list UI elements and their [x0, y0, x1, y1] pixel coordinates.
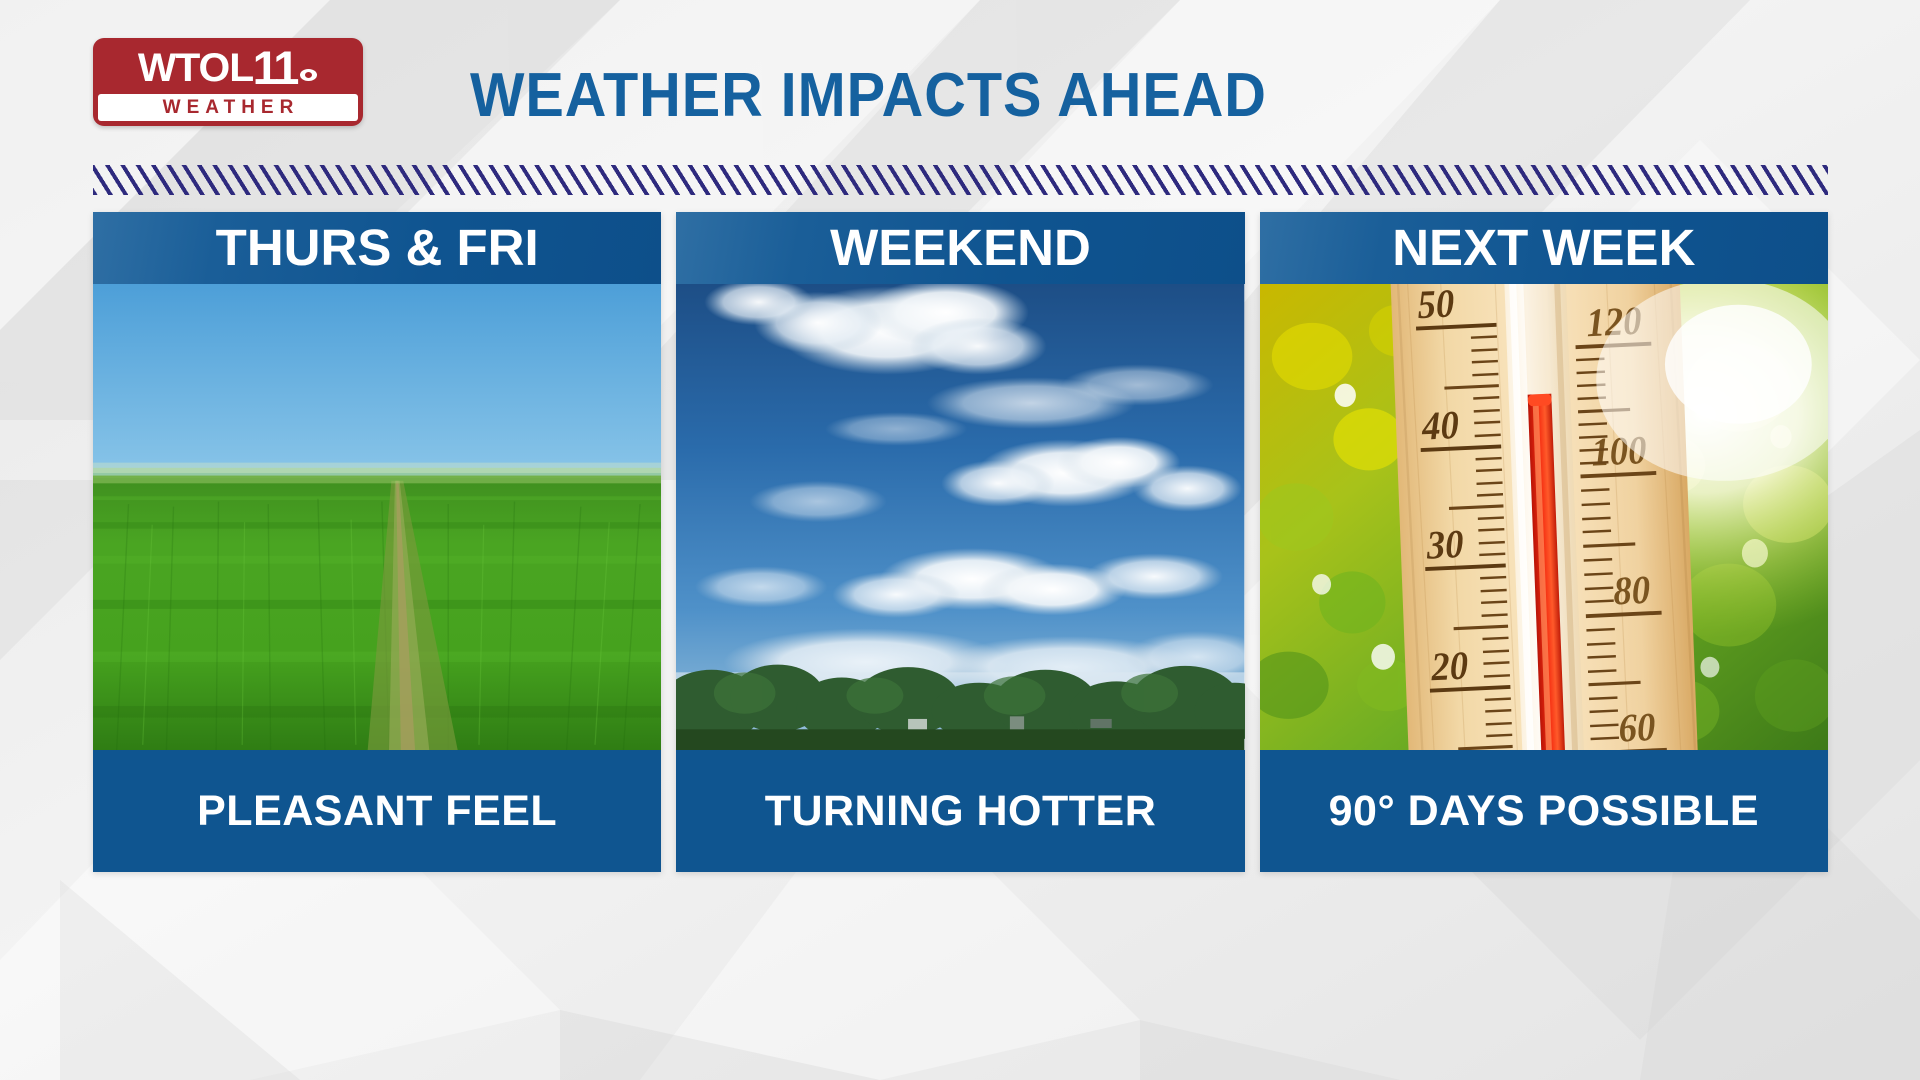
therm-c-label-30: 30 [1425, 523, 1464, 569]
panel-caption-label: TURNING HOTTER [765, 787, 1157, 836]
cbs-eye-icon [300, 69, 317, 81]
panel-header-label: WEEKEND [830, 222, 1091, 274]
wtol11-weather-logo: WTOL 11 WEATHER [93, 38, 363, 126]
green-wheat-field-photo [93, 284, 661, 750]
forecast-panel-weekend[interactable]: WEEKEND [676, 212, 1244, 872]
panel-header-label: NEXT WEEK [1392, 222, 1695, 274]
logo-top-row: WTOL 11 [98, 43, 358, 92]
logo-department-strip: WEATHER [98, 94, 358, 121]
panel-caption-next-week: 90° DAYS POSSIBLE [1260, 750, 1828, 872]
panel-header-thurs-fri: THURS & FRI [93, 212, 661, 284]
therm-f-label-80: 80 [1612, 568, 1650, 613]
therm-c-label-50: 50 [1416, 284, 1454, 327]
panel-header-label: THURS & FRI [216, 222, 539, 274]
forecast-panel-group: THURS & FRI [93, 212, 1828, 872]
page-title: WEATHER IMPACTS AHEAD [470, 60, 1267, 131]
blue-sky-clouds-photo [676, 284, 1244, 750]
logo-department-label: WEATHER [157, 97, 300, 119]
station-callsign: WTOL [138, 48, 253, 88]
panel-header-weekend: WEEKEND [676, 212, 1244, 284]
panel-caption-label: 90° DAYS POSSIBLE [1329, 787, 1759, 836]
therm-c-label-20: 20 [1429, 644, 1468, 690]
therm-f-label-60: 60 [1617, 706, 1655, 750]
panel-caption-label: PLEASANT FEEL [197, 787, 557, 836]
thermometer-photo: 50 40 30 20 10 [1260, 284, 1828, 750]
panel-header-next-week: NEXT WEEK [1260, 212, 1828, 284]
therm-c-label-40: 40 [1420, 404, 1459, 450]
diagonal-stripe-divider [93, 165, 1828, 195]
panel-caption-thurs-fri: PLEASANT FEEL [93, 750, 661, 872]
station-number: 11 [253, 48, 297, 88]
panel-caption-weekend: TURNING HOTTER [676, 750, 1244, 872]
forecast-panel-thurs-fri[interactable]: THURS & FRI [93, 212, 661, 872]
header-bar: WTOL 11 WEATHER WEATHER IMPACTS AHEAD [0, 0, 1920, 165]
forecast-panel-next-week[interactable]: NEXT WEEK [1260, 212, 1828, 872]
